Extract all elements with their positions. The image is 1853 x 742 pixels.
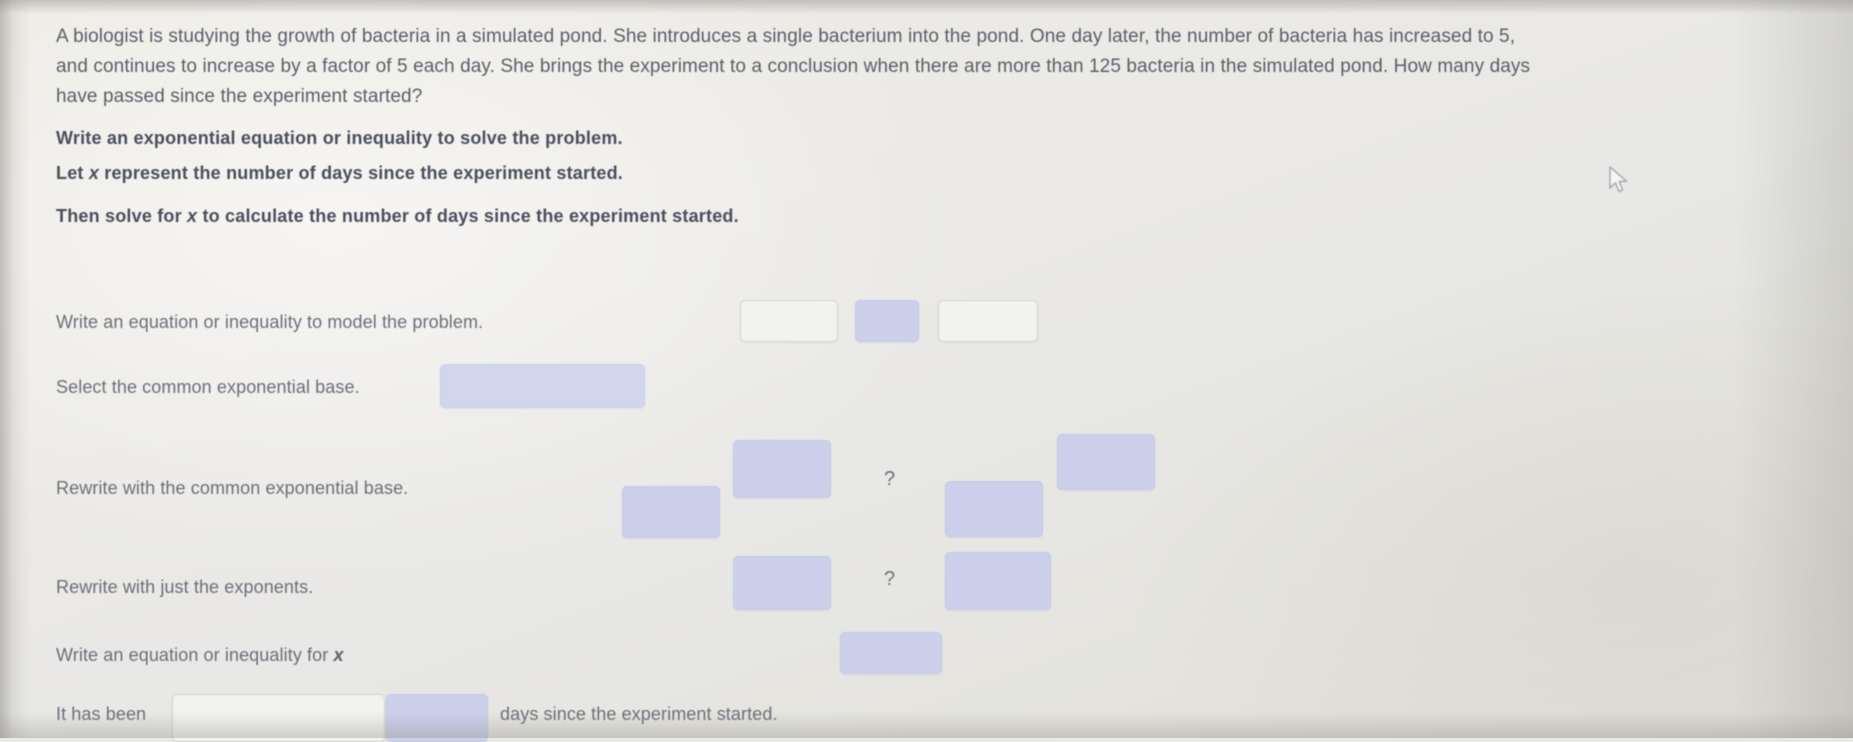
worksheet-page: A biologist is studying the growth of ba… [0,0,1853,738]
step-solve-x-label-prefix: Write an equation or inequality for [56,645,328,665]
problem-line-3: passed since the experiment started? [103,86,422,107]
step-base-label-text: Select the common exponential base. [56,377,360,397]
base-select-dropdown[interactable] [440,364,645,408]
model-right-input[interactable] [938,300,1038,342]
rewrite-base-left-base-input[interactable] [622,486,720,538]
instruction-line-3-variable: x [187,206,197,226]
step-rewrite-base-label-text: Rewrite with the common exponential base… [56,478,408,498]
worksheet-content: A biologist is studying the growth of ba… [0,0,1853,738]
rewrite-exponents-right-input[interactable] [945,552,1051,610]
rewrite-exponents-operator: ? [884,568,895,591]
conclusion-unit-input[interactable] [386,694,488,742]
conclusion-prefix-text: It has been [56,704,146,724]
step-rewrite-exponents-label: Rewrite with just the exponents. [56,577,313,598]
instruction-line-2-prefix: Let [56,163,84,183]
instruction-line-3: Then solve for x to calculate the number… [56,206,739,227]
model-operator-input[interactable] [855,300,919,342]
solve-x-input[interactable] [840,632,942,674]
conclusion-answer-input[interactable] [172,694,385,742]
rewrite-base-operator: ? [884,468,895,491]
mouse-pointer-icon [1608,166,1630,194]
rewrite-exponents-left-input[interactable] [733,556,831,610]
step-solve-x-label-variable: x [333,645,343,665]
conclusion-prefix: It has been [56,704,146,725]
step-model-label: Write an equation or inequality to model… [56,312,483,333]
conclusion-suffix: days since the experiment started. [500,704,778,725]
instruction-line-1: Write an exponential equation or inequal… [56,128,623,149]
instruction-line-2: Let x represent the number of days since… [56,163,623,184]
step-rewrite-exponents-label-text: Rewrite with just the exponents. [56,577,313,597]
instruction-line-3-prefix: Then solve for [56,206,182,226]
instruction-line-2-variable: x [89,163,99,183]
problem-statement: A biologist is studying the growth of ba… [56,22,1546,112]
step-solve-x-label: Write an equation or inequality for x [56,645,344,666]
instruction-line-1-text: Write an exponential equation or inequal… [56,128,623,148]
step-model-label-text: Write an equation or inequality to model… [56,312,483,332]
step-base-label: Select the common exponential base. [56,377,360,398]
step-rewrite-base-label: Rewrite with the common exponential base… [56,478,408,499]
instruction-line-3-suffix: to calculate the number of days since th… [202,206,738,226]
rewrite-base-left-exponent-input[interactable] [733,440,831,498]
instruction-line-2-suffix: represent the number of days since the e… [104,163,623,183]
rewrite-base-right-exponent-input[interactable] [1057,434,1155,490]
conclusion-suffix-text: days since the experiment started. [500,704,778,724]
rewrite-base-right-base-input[interactable] [945,481,1043,537]
model-left-input[interactable] [740,300,838,342]
